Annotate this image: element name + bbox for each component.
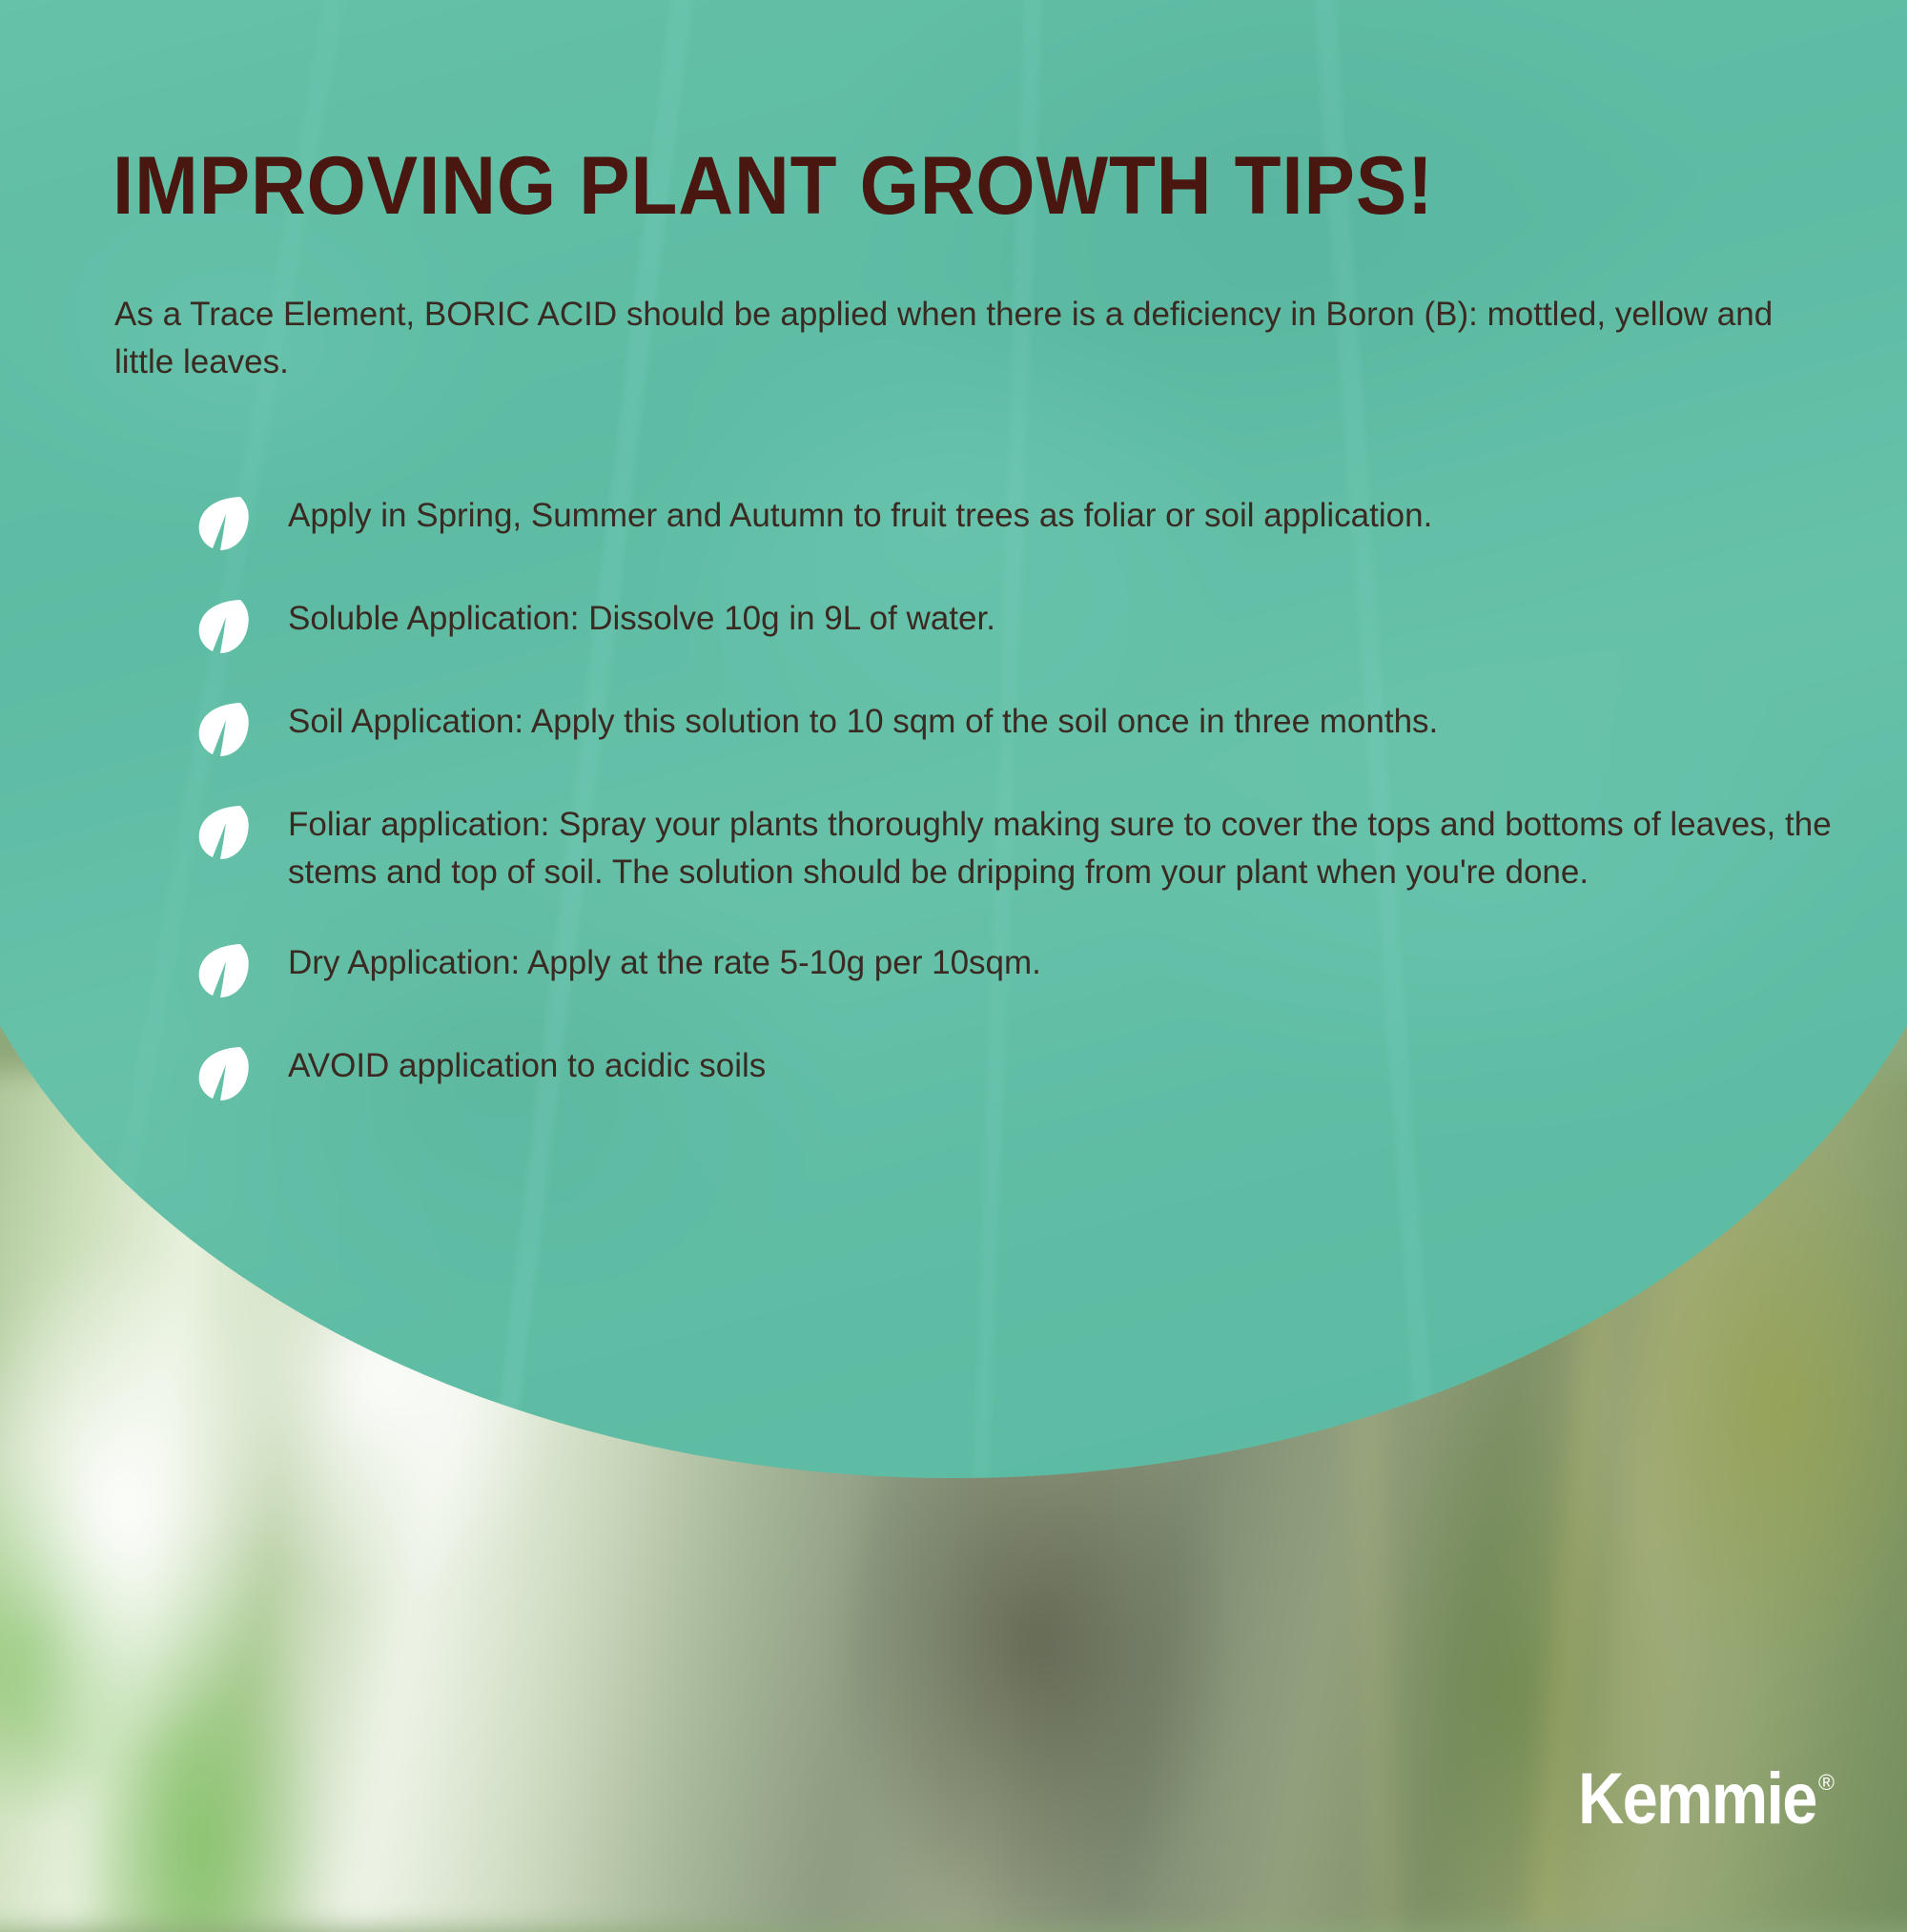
- page-title: IMPROVING PLANT GROWTH TIPS!: [113, 145, 1709, 227]
- list-item-label: Dry Application: Apply at the rate 5-10g…: [288, 939, 1041, 987]
- leaf-icon: [191, 1044, 252, 1103]
- list-item: Soluble Application: Dissolve 10g in 9L …: [191, 595, 1850, 656]
- leaf-icon: [191, 941, 252, 1000]
- leaf-icon: [191, 803, 252, 862]
- leaf-icon: [191, 700, 252, 759]
- list-item: AVOID application to acidic soils: [191, 1042, 1850, 1103]
- tips-list: Apply in Spring, Summer and Autumn to fr…: [191, 492, 1850, 1145]
- list-item: Dry Application: Apply at the rate 5-10g…: [191, 939, 1850, 1000]
- poster-content: IMPROVING PLANT GROWTH TIPS! As a Trace …: [0, 0, 1907, 1907]
- list-item-label: Soil Application: Apply this solution to…: [288, 698, 1438, 746]
- leaf-icon: [191, 597, 252, 656]
- list-item-label: AVOID application to acidic soils: [288, 1042, 766, 1090]
- list-item-label: Foliar application: Spray your plants th…: [288, 801, 1833, 897]
- list-item: Soil Application: Apply this solution to…: [191, 698, 1850, 759]
- leaf-icon: [191, 494, 252, 553]
- registered-trademark-icon: ®: [1818, 1772, 1835, 1794]
- brand-logo-name: Kemmie: [1578, 1766, 1816, 1833]
- list-item-label: Soluble Application: Dissolve 10g in 9L …: [288, 595, 995, 643]
- list-item-label: Apply in Spring, Summer and Autumn to fr…: [288, 492, 1432, 540]
- list-item: Apply in Spring, Summer and Autumn to fr…: [191, 492, 1850, 553]
- list-item: Foliar application: Spray your plants th…: [191, 801, 1850, 897]
- brand-logo: Kemmie ®: [1546, 1766, 1835, 1833]
- intro-paragraph: As a Trace Element, BORIC ACID should be…: [114, 291, 1812, 385]
